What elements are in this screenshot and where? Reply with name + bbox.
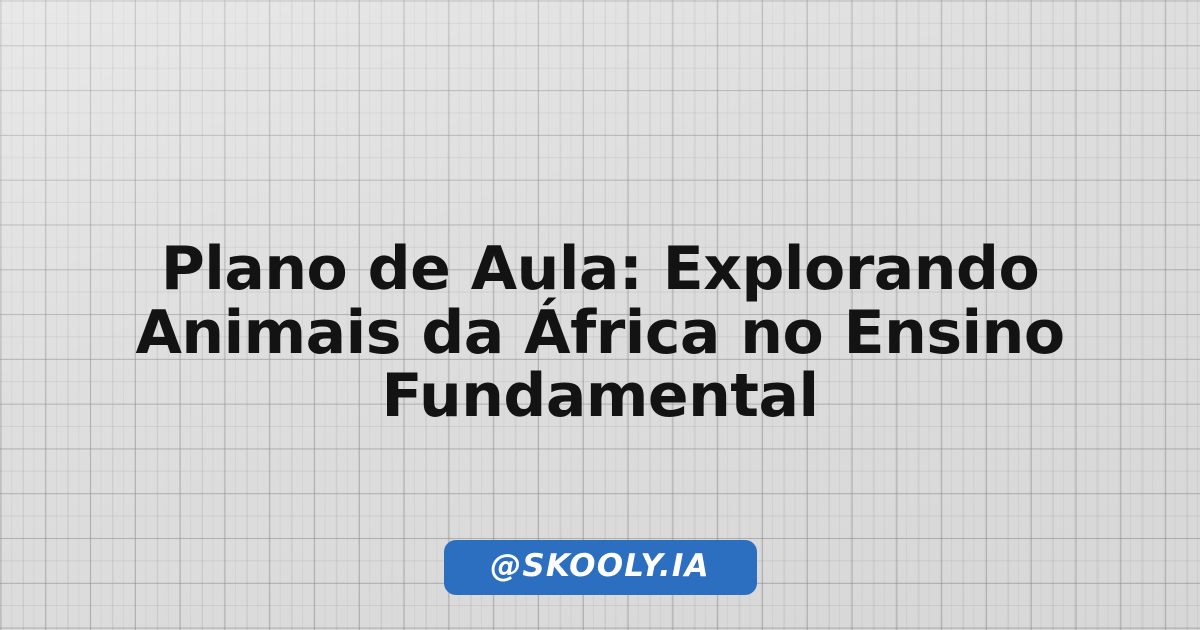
page-title: Plano de Aula: Explorando Animais da Áfr… [26, 238, 1174, 429]
title-block: Plano de Aula: Explorando Animais da Áfr… [0, 238, 1200, 429]
lesson-plan-og-card: Plano de Aula: Explorando Animais da Áfr… [0, 0, 1200, 630]
brand-handle-badge: @SKOOLY.IA [444, 540, 757, 595]
handle-badge-container: @SKOOLY.IA [0, 540, 1200, 595]
